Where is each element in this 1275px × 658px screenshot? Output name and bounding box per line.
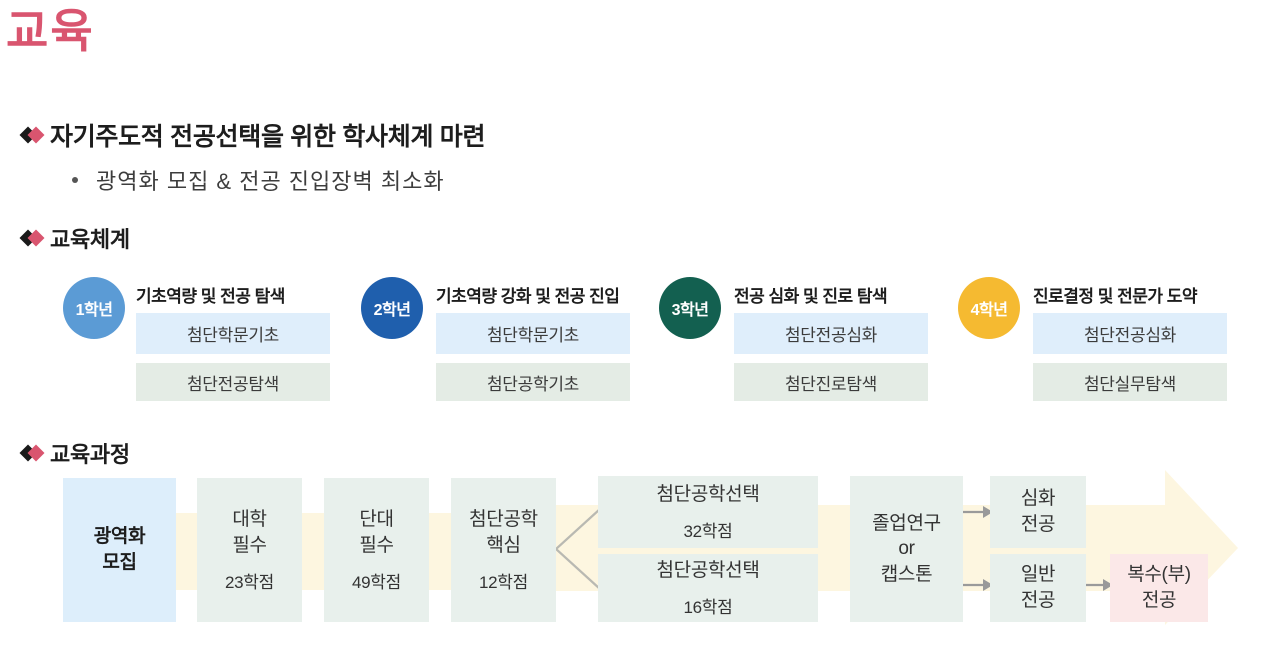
year-badge-2: 2학년 xyxy=(361,277,423,339)
year-heading-3: 전공 심화 및 진로 탐색 xyxy=(734,282,887,307)
year-badge-1: 1학년 xyxy=(63,277,125,339)
page-title: 교육 xyxy=(6,6,95,57)
heading-education-structure: 교육체계 xyxy=(22,222,130,254)
flow-node-univ-required-line-1: 대학 xyxy=(232,507,266,533)
flow-node-college-required-line-1: 단대 xyxy=(359,507,393,533)
course-box-1-2: 첨단전공탐색 xyxy=(136,363,330,401)
course-box-1-1: 첨단학문기초 xyxy=(136,313,330,354)
course-box-2-2: 첨단공학기초 xyxy=(436,363,630,401)
flow-node-capstone-line-3: 캡스톤 xyxy=(881,562,933,588)
flow-node-elective-top-line-1: 첨단공학선택 xyxy=(656,482,759,508)
course-box-4-1: 첨단전공심화 xyxy=(1033,313,1227,354)
course-box-3-2: 첨단진로탐색 xyxy=(734,363,928,401)
flow-node-univ-required-credit: 23학점 xyxy=(225,568,274,593)
flow-node-general-major: 일반 전공 xyxy=(990,554,1086,622)
flow-node-univ-required: 대학 필수 23학점 xyxy=(197,478,302,622)
flow-node-double-major-line-2: 전공 xyxy=(1142,588,1176,614)
flow-node-elective-bottom: 첨단공학선택 16학점 xyxy=(598,554,818,622)
flow-node-capstone-line-2: or xyxy=(898,536,914,562)
sub-bullet-admission-label: 광역화 모집 & 전공 진입장벽 최소화 xyxy=(96,164,445,196)
flow-node-deep-major-line-2: 전공 xyxy=(1021,512,1055,538)
flow-node-elective-top: 첨단공학선택 32학점 xyxy=(598,476,818,548)
flow-node-admission: 광역화 모집 xyxy=(63,478,176,622)
flow-node-core-line-2: 핵심 xyxy=(486,533,520,559)
year-badge-4: 4학년 xyxy=(958,277,1020,339)
flow-node-double-major: 복수(부) 전공 xyxy=(1110,554,1208,622)
flow-node-capstone: 졸업연구 or 캡스톤 xyxy=(850,476,963,622)
year-heading-2: 기초역량 강화 및 전공 진입 xyxy=(436,282,619,307)
course-box-2-1: 첨단학문기초 xyxy=(436,313,630,354)
course-box-4-2: 첨단실무탐색 xyxy=(1033,363,1227,401)
flow-node-core-credit: 12학점 xyxy=(479,568,528,593)
heading-academic-system: 자기주도적 전공선택을 위한 학사체계 마련 xyxy=(22,117,485,153)
flow-node-college-required-line-2: 필수 xyxy=(359,533,393,559)
diamond-bullet-icon xyxy=(22,446,44,460)
diamond-bullet-icon xyxy=(22,128,44,142)
flow-node-general-major-line-2: 전공 xyxy=(1021,588,1055,614)
flow-node-core: 첨단공학 핵심 12학점 xyxy=(451,478,556,622)
diamond-bullet-icon xyxy=(22,231,44,245)
flow-node-general-major-line-1: 일반 xyxy=(1021,562,1055,588)
flow-node-college-required-credit: 49학점 xyxy=(352,568,401,593)
year-heading-1: 기초역량 및 전공 탐색 xyxy=(136,282,285,307)
sub-bullet-admission: 광역화 모집 & 전공 진입장벽 최소화 xyxy=(72,164,445,196)
course-box-3-1: 첨단전공심화 xyxy=(734,313,928,354)
flow-node-deep-major: 심화 전공 xyxy=(990,476,1086,548)
flow-node-admission-line-2: 모집 xyxy=(102,550,136,576)
heading-education-structure-label: 교육체계 xyxy=(50,222,130,254)
flow-node-elective-bottom-credit: 16학점 xyxy=(684,593,733,618)
flow-node-elective-top-credit: 32학점 xyxy=(684,517,733,542)
flow-node-college-required: 단대 필수 49학점 xyxy=(324,478,429,622)
flow-node-core-line-1: 첨단공학 xyxy=(469,507,538,533)
dot-bullet-icon xyxy=(72,177,78,183)
flow-node-elective-bottom-line-1: 첨단공학선택 xyxy=(656,558,759,584)
year-heading-4: 진로결정 및 전문가 도약 xyxy=(1033,282,1197,307)
flow-node-capstone-line-1: 졸업연구 xyxy=(872,511,941,537)
heading-academic-system-label: 자기주도적 전공선택을 위한 학사체계 마련 xyxy=(50,117,485,153)
branch-bracket-connector-icon xyxy=(548,505,604,593)
heading-curriculum: 교육과정 xyxy=(22,437,130,469)
heading-curriculum-label: 교육과정 xyxy=(50,437,130,469)
flow-node-admission-line-1: 광역화 xyxy=(94,524,146,550)
flow-node-univ-required-line-2: 필수 xyxy=(232,533,266,559)
flow-node-deep-major-line-1: 심화 xyxy=(1021,486,1055,512)
flow-node-double-major-line-1: 복수(부) xyxy=(1127,562,1191,588)
year-badge-3: 3학년 xyxy=(659,277,721,339)
